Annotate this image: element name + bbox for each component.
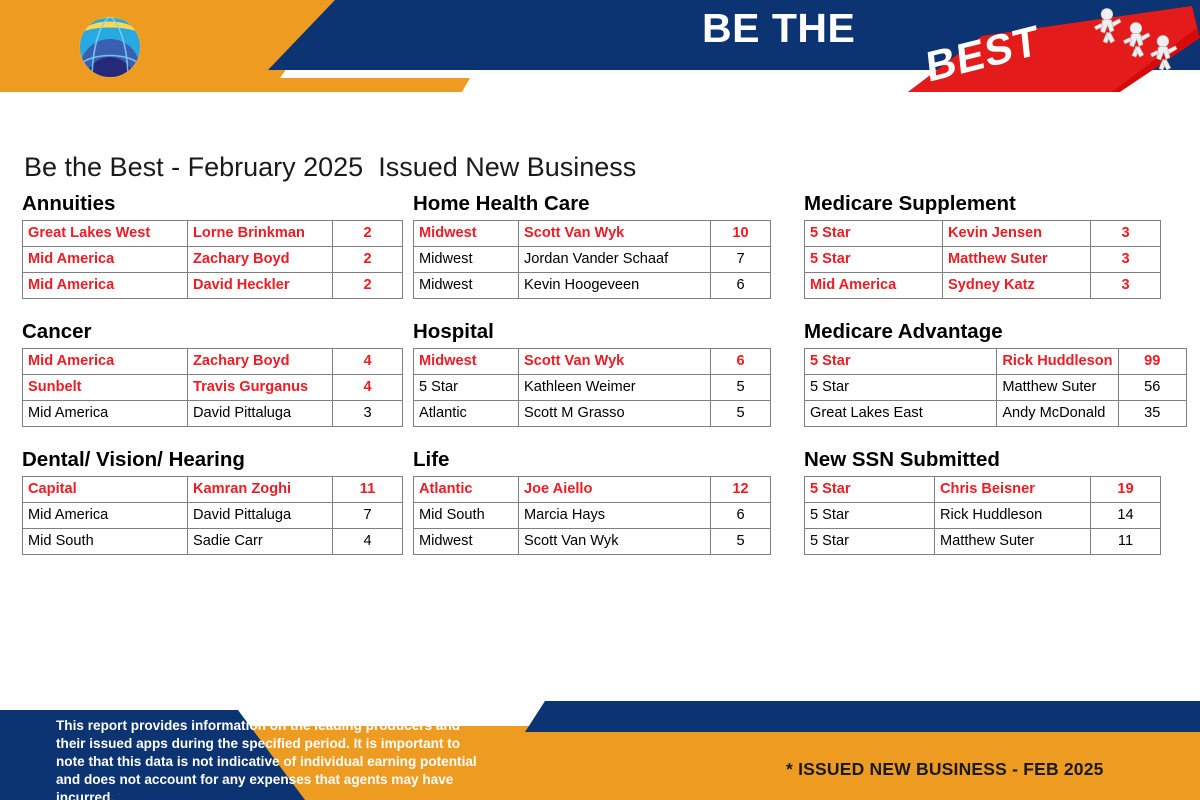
table-row[interactable]: Great Lakes West Lorne Brinkman 2 <box>23 220 403 246</box>
cell-value: 4 <box>333 348 403 374</box>
footer-disclaimer: This report provides information on the … <box>56 717 486 800</box>
table-row[interactable]: Atlantic Scott M Grasso 5 <box>414 400 771 426</box>
block-cancer: Cancer Mid America Zachary Boyd 4 Sunbel… <box>14 321 405 427</box>
cell-org: Sunbelt <box>23 374 188 400</box>
cell-org: Atlantic <box>414 400 519 426</box>
cell-value: 4 <box>333 374 403 400</box>
leaderboard-table: 5 Star Kevin Jensen 3 5 Star Matthew Sut… <box>804 220 1161 299</box>
cell-name: Kevin Hoogeveen <box>519 272 711 298</box>
cell-name: Jordan Vander Schaaf <box>519 246 711 272</box>
slide-page: BE THE BEST <box>0 0 1200 800</box>
cell-org: Atlantic <box>414 476 519 502</box>
cell-org: Mid America <box>23 348 188 374</box>
cell-org: Mid South <box>23 528 188 554</box>
cell-org: 5 Star <box>805 502 935 528</box>
header-banner: BE THE BEST <box>0 0 1200 92</box>
cell-name: Rick Huddleson <box>935 502 1091 528</box>
cell-name: David Heckler <box>188 272 333 298</box>
leaderboard-table: Capital Kamran Zoghi 11 Mid America Davi… <box>22 476 403 555</box>
cell-value: 4 <box>333 528 403 554</box>
cell-value: 11 <box>1091 528 1161 554</box>
block-home-health-care: Home Health Care Midwest Scott Van Wyk 1… <box>405 193 796 299</box>
cell-value: 35 <box>1118 400 1186 426</box>
table-row[interactable]: Atlantic Joe Aiello 12 <box>414 476 771 502</box>
block-medicare-supplement: Medicare Supplement 5 Star Kevin Jensen … <box>796 193 1187 299</box>
block-row-2: Cancer Mid America Zachary Boyd 4 Sunbel… <box>14 321 1189 449</box>
cell-name: Matthew Suter <box>997 374 1118 400</box>
cell-org: Capital <box>23 476 188 502</box>
cell-value: 5 <box>711 400 771 426</box>
cell-value: 6 <box>711 272 771 298</box>
block-annuities: Annuities Great Lakes West Lorne Brinkma… <box>14 193 405 299</box>
table-row[interactable]: Mid America Zachary Boyd 2 <box>23 246 403 272</box>
cell-org: Great Lakes West <box>23 220 188 246</box>
cell-name: David Pittaluga <box>188 400 333 426</box>
table-row[interactable]: Mid America David Heckler 2 <box>23 272 403 298</box>
cell-org: 5 Star <box>805 476 935 502</box>
cell-name: Matthew Suter <box>935 528 1091 554</box>
cell-name: Scott Van Wyk <box>519 220 711 246</box>
cell-value: 3 <box>333 400 403 426</box>
cell-value: 6 <box>711 348 771 374</box>
block-title: Medicare Advantage <box>804 321 1187 344</box>
block-row-3: Dental/ Vision/ Hearing Capital Kamran Z… <box>14 449 1189 577</box>
cell-value: 11 <box>333 476 403 502</box>
block-title: New SSN Submitted <box>804 449 1187 472</box>
table-row[interactable]: Midwest Scott Van Wyk 5 <box>414 528 771 554</box>
table-row[interactable]: 5 Star Chris Beisner 19 <box>805 476 1161 502</box>
table-row[interactable]: Mid America David Pittaluga 3 <box>23 400 403 426</box>
cell-org: Mid America <box>23 272 188 298</box>
block-title: Life <box>413 449 796 472</box>
table-row[interactable]: Capital Kamran Zoghi 11 <box>23 476 403 502</box>
cell-name: Sadie Carr <box>188 528 333 554</box>
cell-value: 56 <box>1118 374 1186 400</box>
cell-name: David Pittaluga <box>188 502 333 528</box>
cell-name: Scott Van Wyk <box>519 348 711 374</box>
table-row[interactable]: 5 Star Rick Huddleson 14 <box>805 502 1161 528</box>
cell-value: 5 <box>711 528 771 554</box>
block-title: Medicare Supplement <box>804 193 1187 216</box>
cell-value: 19 <box>1091 476 1161 502</box>
cell-org: Midwest <box>414 348 519 374</box>
cell-name: Rick Huddleson <box>997 348 1118 374</box>
cell-value: 3 <box>1091 246 1161 272</box>
cell-org: Mid America <box>23 400 188 426</box>
cell-value: 2 <box>333 246 403 272</box>
report-grid: Annuities Great Lakes West Lorne Brinkma… <box>14 193 1189 577</box>
cell-name: Zachary Boyd <box>188 246 333 272</box>
cell-org: 5 Star <box>805 246 943 272</box>
block-new-ssn-submitted: New SSN Submitted 5 Star Chris Beisner 1… <box>796 449 1187 555</box>
cell-value: 5 <box>711 374 771 400</box>
table-row[interactable]: Mid America David Pittaluga 7 <box>23 502 403 528</box>
table-row[interactable]: Sunbelt Travis Gurganus 4 <box>23 374 403 400</box>
cell-name: Matthew Suter <box>943 246 1091 272</box>
table-row[interactable]: Mid America Zachary Boyd 4 <box>23 348 403 374</box>
block-title: Hospital <box>413 321 796 344</box>
block-life: Life Atlantic Joe Aiello 12 Mid South Ma… <box>405 449 796 555</box>
leaderboard-table: Great Lakes West Lorne Brinkman 2 Mid Am… <box>22 220 403 299</box>
cell-org: 5 Star <box>805 374 997 400</box>
cell-org: Mid America <box>23 246 188 272</box>
cell-value: 12 <box>711 476 771 502</box>
cell-org: 5 Star <box>805 220 943 246</box>
table-row[interactable]: 5 Star Kathleen Weimer 5 <box>414 374 771 400</box>
block-row-1: Annuities Great Lakes West Lorne Brinkma… <box>14 193 1189 321</box>
cell-name: Scott M Grasso <box>519 400 711 426</box>
table-row[interactable]: Midwest Kevin Hoogeveen 6 <box>414 272 771 298</box>
globe-logo <box>72 7 148 83</box>
cell-value: 3 <box>1091 220 1161 246</box>
cell-name: Scott Van Wyk <box>519 528 711 554</box>
globe-logo-icon <box>72 7 148 83</box>
cell-org: 5 Star <box>414 374 519 400</box>
block-title: Home Health Care <box>413 193 796 216</box>
cell-value: 6 <box>711 502 771 528</box>
cell-value: 2 <box>333 220 403 246</box>
cell-name: Sydney Katz <box>943 272 1091 298</box>
block-dental-vision-hearing: Dental/ Vision/ Hearing Capital Kamran Z… <box>14 449 405 555</box>
cell-org: Midwest <box>414 220 519 246</box>
cell-name: Kathleen Weimer <box>519 374 711 400</box>
cell-value: 99 <box>1118 348 1186 374</box>
cell-name: Kevin Jensen <box>943 220 1091 246</box>
footer-banner: This report provides information on the … <box>0 692 1200 800</box>
block-title: Cancer <box>22 321 405 344</box>
cell-value: 7 <box>333 502 403 528</box>
table-row[interactable]: Great Lakes East Andy McDonald 35 <box>805 400 1187 426</box>
cell-name: Chris Beisner <box>935 476 1091 502</box>
cell-name: Lorne Brinkman <box>188 220 333 246</box>
cell-name: Andy McDonald <box>997 400 1118 426</box>
header-tagline: BE THE <box>702 8 855 49</box>
cell-value: 7 <box>711 246 771 272</box>
footer-note: * ISSUED NEW BUSINESS - FEB 2025 <box>786 759 1104 780</box>
cell-org: Midwest <box>414 528 519 554</box>
cell-org: Mid America <box>23 502 188 528</box>
leaderboard-table: Mid America Zachary Boyd 4 Sunbelt Travi… <box>22 348 403 427</box>
table-row[interactable]: 5 Star Matthew Suter 11 <box>805 528 1161 554</box>
best-badge-graphic: BEST <box>900 0 1200 92</box>
page-title: Be the Best - February 2025 Issued New B… <box>24 152 636 183</box>
cell-org: Midwest <box>414 246 519 272</box>
block-hospital: Hospital Midwest Scott Van Wyk 6 5 Star … <box>405 321 796 427</box>
cell-value: 10 <box>711 220 771 246</box>
cell-org: 5 Star <box>805 528 935 554</box>
cell-value: 14 <box>1091 502 1161 528</box>
cell-name: Travis Gurganus <box>188 374 333 400</box>
block-title: Annuities <box>22 193 405 216</box>
cell-name: Joe Aiello <box>519 476 711 502</box>
cell-value: 2 <box>333 272 403 298</box>
cell-org: Mid South <box>414 502 519 528</box>
table-row[interactable]: 5 Star Rick Huddleson 99 <box>805 348 1187 374</box>
table-row[interactable]: 5 Star Matthew Suter 56 <box>805 374 1187 400</box>
table-row[interactable]: 5 Star Kevin Jensen 3 <box>805 220 1161 246</box>
cell-org: Great Lakes East <box>805 400 997 426</box>
leaderboard-table: Midwest Scott Van Wyk 10 Midwest Jordan … <box>413 220 771 299</box>
table-row[interactable]: Mid South Sadie Carr 4 <box>23 528 403 554</box>
leaderboard-table: 5 Star Rick Huddleson 99 5 Star Matthew … <box>804 348 1187 427</box>
table-row[interactable]: Midwest Jordan Vander Schaaf 7 <box>414 246 771 272</box>
cell-name: Kamran Zoghi <box>188 476 333 502</box>
table-row[interactable]: Midwest Scott Van Wyk 6 <box>414 348 771 374</box>
best-badge: BEST <box>900 0 1200 92</box>
cell-value: 3 <box>1091 272 1161 298</box>
table-row[interactable]: Mid South Marcia Hays 6 <box>414 502 771 528</box>
leaderboard-table: Midwest Scott Van Wyk 6 5 Star Kathleen … <box>413 348 771 427</box>
cell-org: Midwest <box>414 272 519 298</box>
table-row[interactable]: Midwest Scott Van Wyk 10 <box>414 220 771 246</box>
cell-name: Marcia Hays <box>519 502 711 528</box>
block-title: Dental/ Vision/ Hearing <box>22 449 405 472</box>
cell-name: Zachary Boyd <box>188 348 333 374</box>
leaderboard-table: Atlantic Joe Aiello 12 Mid South Marcia … <box>413 476 771 555</box>
block-medicare-advantage: Medicare Advantage 5 Star Rick Huddleson… <box>796 321 1187 427</box>
leaderboard-table: 5 Star Chris Beisner 19 5 Star Rick Hudd… <box>804 476 1161 555</box>
table-row[interactable]: 5 Star Matthew Suter 3 <box>805 246 1161 272</box>
table-row[interactable]: Mid America Sydney Katz 3 <box>805 272 1161 298</box>
cell-org: Mid America <box>805 272 943 298</box>
cell-org: 5 Star <box>805 348 997 374</box>
